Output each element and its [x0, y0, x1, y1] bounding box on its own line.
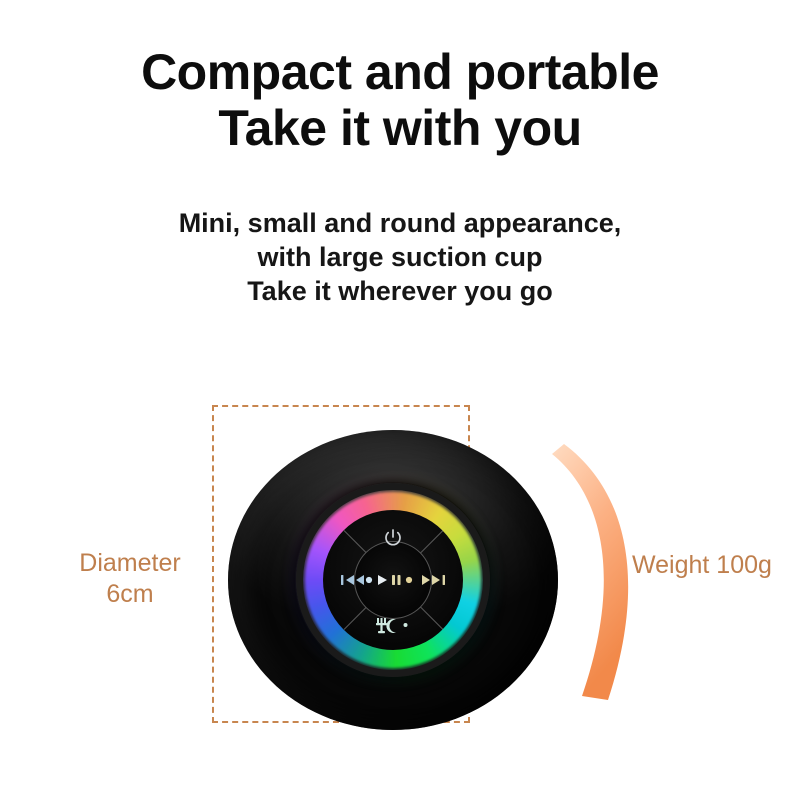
- previous-track-icon: [341, 575, 364, 585]
- diameter-value-text: 6cm: [50, 579, 210, 610]
- control-face: [323, 510, 463, 650]
- play-pause-icon: [366, 575, 412, 585]
- subtitle-line-1: Mini, small and round appearance,: [0, 206, 800, 240]
- light-mode-button[interactable]: [371, 616, 415, 636]
- product-image-speaker: [228, 430, 558, 730]
- next-track-icon: [422, 575, 445, 585]
- power-icon: [386, 530, 400, 545]
- subtitle-line-2: with large suction cup: [0, 240, 800, 274]
- headline-line-1: Compact and portable: [141, 44, 659, 100]
- headline-line-2: Take it with you: [0, 100, 800, 156]
- product-feature-image: Compact and portable Take it with you Mi…: [0, 0, 800, 800]
- page-title: Compact and portable Take it with you: [0, 44, 800, 156]
- power-button[interactable]: [382, 527, 404, 549]
- diameter-label-text: Diameter: [50, 548, 210, 579]
- subtitle-block: Mini, small and round appearance, with l…: [0, 206, 800, 308]
- play-pause-button[interactable]: [363, 572, 423, 588]
- diameter-label: Diameter 6cm: [50, 548, 210, 610]
- control-panel: [305, 492, 481, 668]
- next-track-button[interactable]: [420, 572, 446, 588]
- light-mode-icon: [376, 618, 408, 633]
- subtitle-line-3: Take it wherever you go: [0, 274, 800, 308]
- weight-label: Weight 100g: [632, 550, 772, 581]
